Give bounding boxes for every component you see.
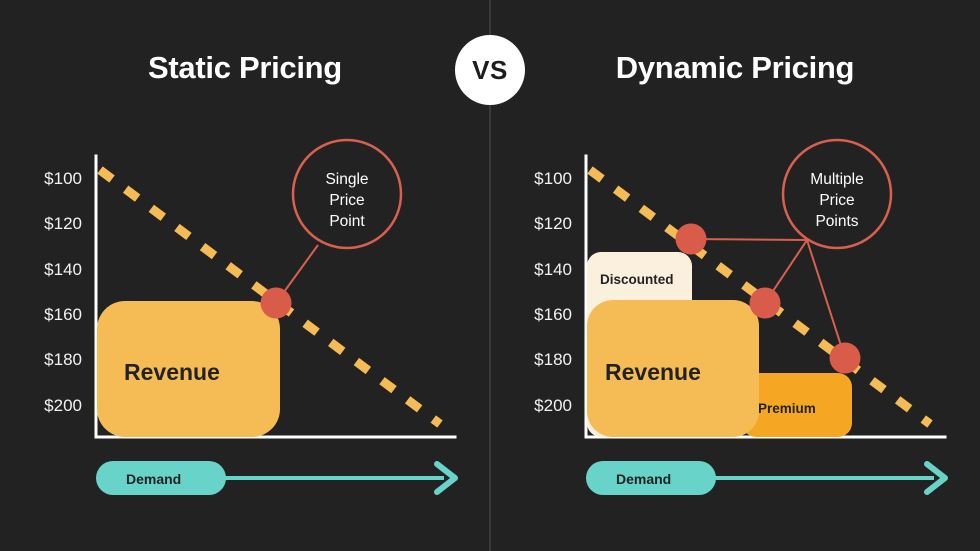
bar-revenue-label: Revenue	[605, 359, 701, 385]
price-point-marker	[750, 288, 781, 319]
y-tick-label: $180	[534, 350, 572, 369]
y-tick-label: $120	[534, 214, 572, 233]
y-tick-label: $180	[44, 350, 82, 369]
dynamic-pricing-chart: $100 $120 $140 $160 $180 $200 Discounted…	[490, 0, 980, 551]
y-tick-label: $100	[534, 169, 572, 188]
bar-discounted-label: Discounted	[600, 272, 674, 287]
callout-line: Multiple	[810, 171, 863, 188]
y-tick-label: $160	[44, 305, 82, 324]
price-point-marker	[676, 224, 707, 255]
y-tick-label: $140	[534, 260, 572, 279]
y-tick-label: $200	[44, 396, 82, 415]
bar-premium-label: Premium	[758, 401, 816, 416]
static-pricing-chart: $100 $120 $140 $160 $180 $200 Revenue Si…	[0, 0, 490, 551]
price-point-marker	[261, 288, 292, 319]
y-tick-label: $120	[44, 214, 82, 233]
demand-pill-label: Demand	[616, 471, 671, 487]
callout-line: Price	[819, 192, 854, 209]
demand-pill-label: Demand	[126, 471, 181, 487]
callout-leader-line	[691, 239, 807, 240]
callout-leader-line	[807, 240, 845, 358]
callout-line: Price	[329, 192, 364, 209]
y-tick-label: $160	[534, 305, 572, 324]
y-tick-label: $140	[44, 260, 82, 279]
y-tick-label: $100	[44, 169, 82, 188]
callout-line: Point	[329, 213, 365, 230]
callout-line: Single	[325, 171, 368, 188]
bar-revenue-label: Revenue	[124, 359, 220, 385]
infographic-canvas: VS Static Pricing Dynamic Pricing $100 $…	[0, 0, 980, 551]
y-tick-label: $200	[534, 396, 572, 415]
callout-line: Points	[815, 213, 858, 230]
price-point-marker	[830, 343, 861, 374]
